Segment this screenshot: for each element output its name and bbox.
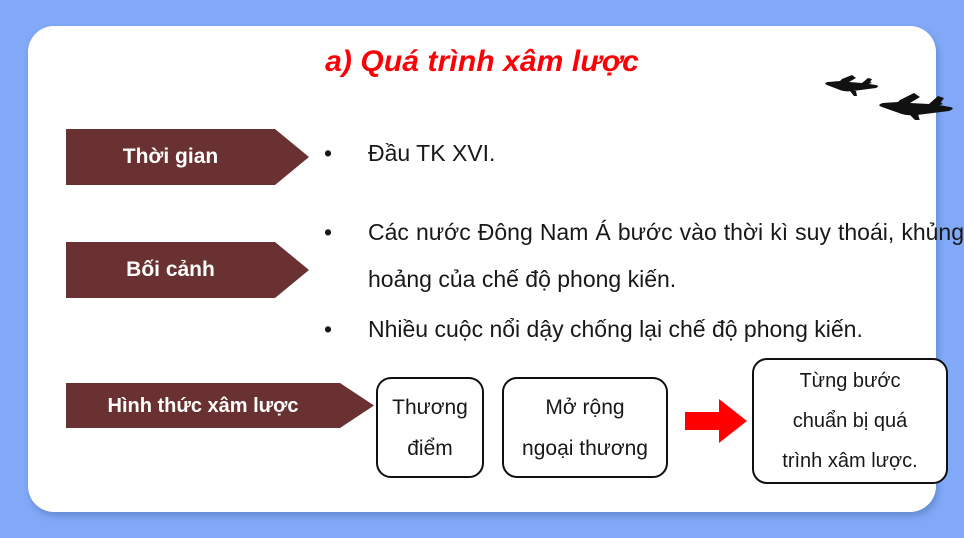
flow-box-line: Từng bước [799,361,900,401]
arrow-right-icon [685,397,747,445]
label-chevron-boi-canh: Bối cảnh [66,242,309,298]
list-item: • Nhiều cuộc nổi dậy chống lại chế độ ph… [324,306,964,353]
flow-box-line: chuẩn bị quá [793,401,908,441]
airplane-decoration [796,58,956,120]
airplane-icon [825,75,878,96]
list-item: • Các nước Đông Nam Á bước vào thời kì s… [324,209,964,303]
bullet-marker-icon: • [324,130,368,177]
bullet-marker-icon: • [324,209,368,256]
flow-box-line: trình xâm lược. [782,441,917,481]
bullet-list: • Đầu TK XVI. • Các nước Đông Nam Á bước… [324,130,964,353]
label-chevron-thoi-gian: Thời gian [66,129,309,185]
flow-box-line: Thương [392,387,468,428]
list-item-text: Nhiều cuộc nổi dậy chống lại chế độ phon… [368,306,964,353]
list-item-text: Đầu TK XVI. [368,130,964,177]
label-chevron-hinh-thuc-xam-luoc: Hình thức xâm lược [66,383,374,428]
flow-box-ngoai-thuong: Mở rộng ngoại thương [502,377,668,478]
chevron-label: Thời gian [66,145,275,168]
airplane-icon [879,93,953,120]
chevron-label: Bối cảnh [66,258,275,281]
flow-box-ket-qua: Từng bước chuẩn bị quá trình xâm lược. [752,358,948,484]
flow-box-thuong-diem: Thương điểm [376,377,484,478]
flow-box-line: điểm [407,428,453,469]
list-item: • Đầu TK XVI. [324,130,964,177]
flow-box-line: Mở rộng [545,387,624,428]
list-item-text: Các nước Đông Nam Á bước vào thời kì suy… [368,209,964,303]
chevron-label: Hình thức xâm lược [66,395,340,417]
slide-card: a) Quá trình xâm lược Thời gian Bối cảnh… [28,26,936,512]
bullet-marker-icon: • [324,306,368,353]
flow-box-line: ngoại thương [522,428,648,469]
